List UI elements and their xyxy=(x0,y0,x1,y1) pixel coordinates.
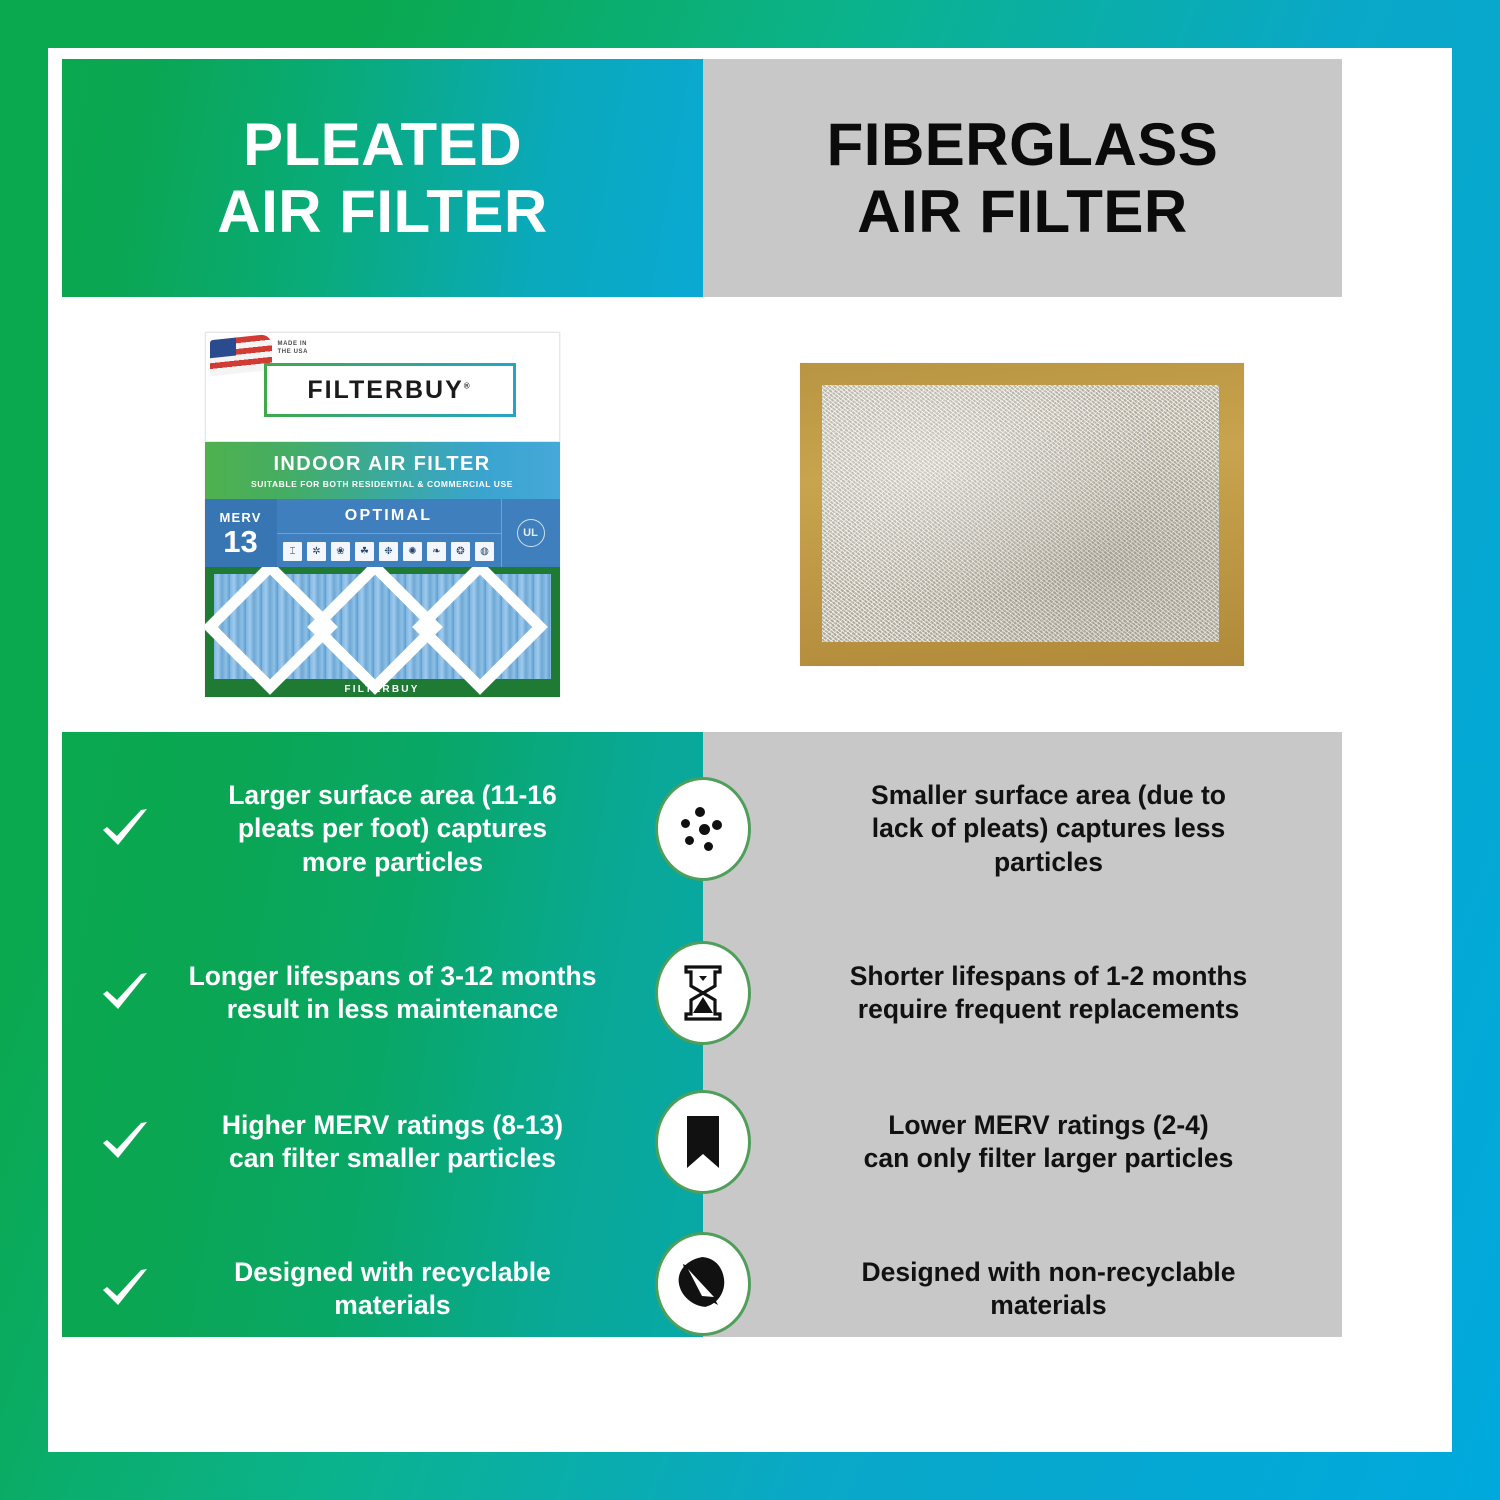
broom-icon: ⌶ xyxy=(283,542,302,561)
pleated-filter-image: MADE IN THE USA FILTERBUY® INDOOR AIR FI… xyxy=(205,332,560,697)
capability-icon-row: ⌶ ✲ ❀ ☘ ❉ ✺ ❧ ❂ ◍ xyxy=(277,534,501,568)
dust-mite-icon: ✲ xyxy=(307,542,326,561)
support-grid xyxy=(214,574,551,679)
product-image-row: MADE IN THE USA FILTERBUY® INDOOR AIR FI… xyxy=(62,297,1342,732)
row-left-1: Larger surface area (11-16 pleats per fo… xyxy=(62,779,703,879)
row-right-label-3: Lower MERV ratings (2-4) can only filter… xyxy=(789,1109,1308,1176)
pleated-label-band: INDOOR AIR FILTER SUITABLE FOR BOTH RESI… xyxy=(205,442,560,499)
header-pleated-title: PLEATED AIR FILTER xyxy=(217,111,548,245)
band-subtitle: SUITABLE FOR BOTH RESIDENTIAL & COMMERCI… xyxy=(251,479,513,489)
mold-icon: ☘ xyxy=(355,542,374,561)
check-icon xyxy=(96,800,154,858)
smoke-icon: ❂ xyxy=(451,542,470,561)
header-pleated: PLEATED AIR FILTER xyxy=(62,59,703,297)
filterbuy-logo-text: FILTERBUY® xyxy=(307,376,471,405)
row-left-2: Longer lifespans of 3-12 months result i… xyxy=(62,960,703,1027)
row-right-4: Designed with non-recyclable materials xyxy=(703,1256,1342,1323)
row-right-2: Shorter lifespans of 1-2 months require … xyxy=(703,960,1342,1027)
header-fiberglass-title: FIBERGLASS AIR FILTER xyxy=(827,111,1219,245)
fiberglass-filter-image xyxy=(800,363,1244,666)
merv-value: 13 xyxy=(223,526,257,557)
table-row: Higher MERV ratings (8-13) can filter sm… xyxy=(62,1070,1342,1214)
row-right-1: Smaller surface area (due to lack of ple… xyxy=(703,779,1342,879)
bookmark-icon xyxy=(655,1090,751,1194)
merv-badge: MERV 13 xyxy=(205,499,277,567)
fiberglass-media xyxy=(822,385,1219,642)
table-row: Longer lifespans of 3-12 months result i… xyxy=(62,918,1342,1068)
pleated-label-top: MADE IN THE USA FILTERBUY® xyxy=(205,332,560,442)
row-left-3: Higher MERV ratings (8-13) can filter sm… xyxy=(62,1109,703,1176)
hourglass-icon xyxy=(655,941,751,1045)
product-cell-pleated: MADE IN THE USA FILTERBUY® INDOOR AIR FI… xyxy=(62,297,702,732)
comparison-rows: Larger surface area (11-16 pleats per fo… xyxy=(62,732,1342,1337)
filter-footer-brand: FILTERBUY xyxy=(205,684,560,695)
pollen-icon: ❀ xyxy=(331,542,350,561)
made-in-usa-text: MADE IN THE USA xyxy=(278,340,309,356)
grid-diamond xyxy=(412,567,548,694)
band-title: INDOOR AIR FILTER xyxy=(273,453,490,476)
pet-dander-icon: ❧ xyxy=(427,542,446,561)
ul-certification: UL xyxy=(501,499,560,567)
check-icon xyxy=(96,1113,154,1171)
row-right-label-4: Designed with non-recyclable materials xyxy=(789,1256,1308,1323)
pleated-media-area: FILTERBUY xyxy=(205,567,560,697)
particle-dots xyxy=(673,799,733,859)
row-left-label-1: Larger surface area (11-16 pleats per fo… xyxy=(158,779,627,879)
row-right-label-1: Smaller surface area (due to lack of ple… xyxy=(789,779,1308,879)
pleated-label-blue: MERV 13 OPTIMAL ⌶ ✲ ❀ ☘ ❉ ✺ ❧ xyxy=(205,499,560,567)
leaf-icon xyxy=(655,1232,751,1336)
particles-icon xyxy=(655,777,751,881)
row-left-4: Designed with recyclable materials xyxy=(62,1256,703,1323)
bacteria-icon: ✺ xyxy=(403,542,422,561)
lint-icon: ❉ xyxy=(379,542,398,561)
header-row: PLEATED AIR FILTER FIBERGLASS AIR FILTER xyxy=(62,59,1342,297)
check-icon xyxy=(96,1260,154,1318)
merv-label: MERV xyxy=(219,510,261,525)
tier-and-icons: OPTIMAL ⌶ ✲ ❀ ☘ ❉ ✺ ❧ ❂ ◍ xyxy=(277,499,501,567)
outer-gradient-frame: PLEATED AIR FILTER FIBERGLASS AIR FILTER… xyxy=(0,0,1500,1500)
usa-flag-icon xyxy=(210,334,272,377)
product-cell-fiberglass xyxy=(702,297,1342,732)
row-right-label-2: Shorter lifespans of 1-2 months require … xyxy=(789,960,1308,1027)
filterbuy-logo-box: FILTERBUY® xyxy=(264,363,516,417)
table-row: Designed with recyclable materials Desig… xyxy=(62,1214,1342,1364)
row-left-label-3: Higher MERV ratings (8-13) can filter sm… xyxy=(158,1109,627,1176)
allergen-icon: ◍ xyxy=(475,542,494,561)
check-icon xyxy=(96,964,154,1022)
ul-icon: UL xyxy=(517,519,545,547)
row-left-label-2: Longer lifespans of 3-12 months result i… xyxy=(158,960,627,1027)
row-right-3: Lower MERV ratings (2-4) can only filter… xyxy=(703,1109,1342,1176)
brand-word: FILTERBUY xyxy=(307,376,463,404)
tier-name: OPTIMAL xyxy=(277,499,501,534)
row-left-label-4: Designed with recyclable materials xyxy=(158,1256,627,1323)
table-row: Larger surface area (11-16 pleats per fo… xyxy=(62,746,1342,912)
brand-tm: ® xyxy=(464,381,472,390)
header-fiberglass: FIBERGLASS AIR FILTER xyxy=(703,59,1342,297)
